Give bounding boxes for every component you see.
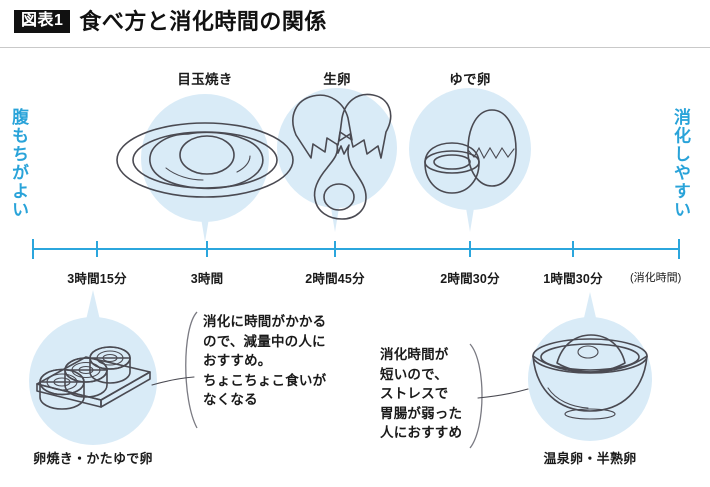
axis-label-2: 3時間 (191, 268, 224, 287)
axis-label-3: 2時間45分 (305, 268, 365, 287)
callout-left-text: 消化に時間がかかる ので、減量中の人に おすすめ。 ちょこちょこ食いが なくなる (203, 312, 326, 410)
caption-boiled-egg: ゆで卵 (449, 68, 490, 88)
axis-label-1: 3時間15分 (67, 268, 127, 287)
tamagoyaki-icon (37, 347, 150, 409)
axis-unit-note: (消化時間) (630, 269, 681, 285)
caption-fried-egg: 目玉焼き (177, 68, 232, 88)
leader-left-callout (186, 312, 197, 428)
boiled-egg-icon (425, 110, 516, 193)
connector-tamagoyaki (152, 377, 194, 385)
axis-label-4: 2時間30分 (440, 268, 500, 287)
axis-label-5: 1時間30分 (543, 268, 603, 287)
caption-tamagoyaki: 卵焼き・かたゆで卵 (33, 448, 153, 467)
axis-cap-left (32, 239, 34, 259)
axis-cap-right (678, 239, 680, 259)
caption-onsen-egg: 温泉卵・半熟卵 (543, 448, 636, 467)
timeline-axis (32, 248, 680, 250)
axis-tick-1 (96, 241, 98, 257)
axis-tick-4 (469, 241, 471, 257)
axis-tick-2 (206, 241, 208, 257)
connector-onsen (478, 389, 528, 398)
caption-raw-egg: 生卵 (323, 68, 351, 88)
callout-right-text: 消化時間が 短いので、 ストレスで 胃腸が弱った 人におすすめ (380, 345, 462, 443)
axis-tick-5 (572, 241, 574, 257)
raw-egg-icon (293, 94, 391, 219)
leader-right-callout (470, 344, 482, 448)
onsen-egg-icon (533, 335, 647, 419)
axis-tick-3 (334, 241, 336, 257)
fried-egg-icon (117, 123, 293, 197)
illustrations-layer (0, 0, 710, 487)
